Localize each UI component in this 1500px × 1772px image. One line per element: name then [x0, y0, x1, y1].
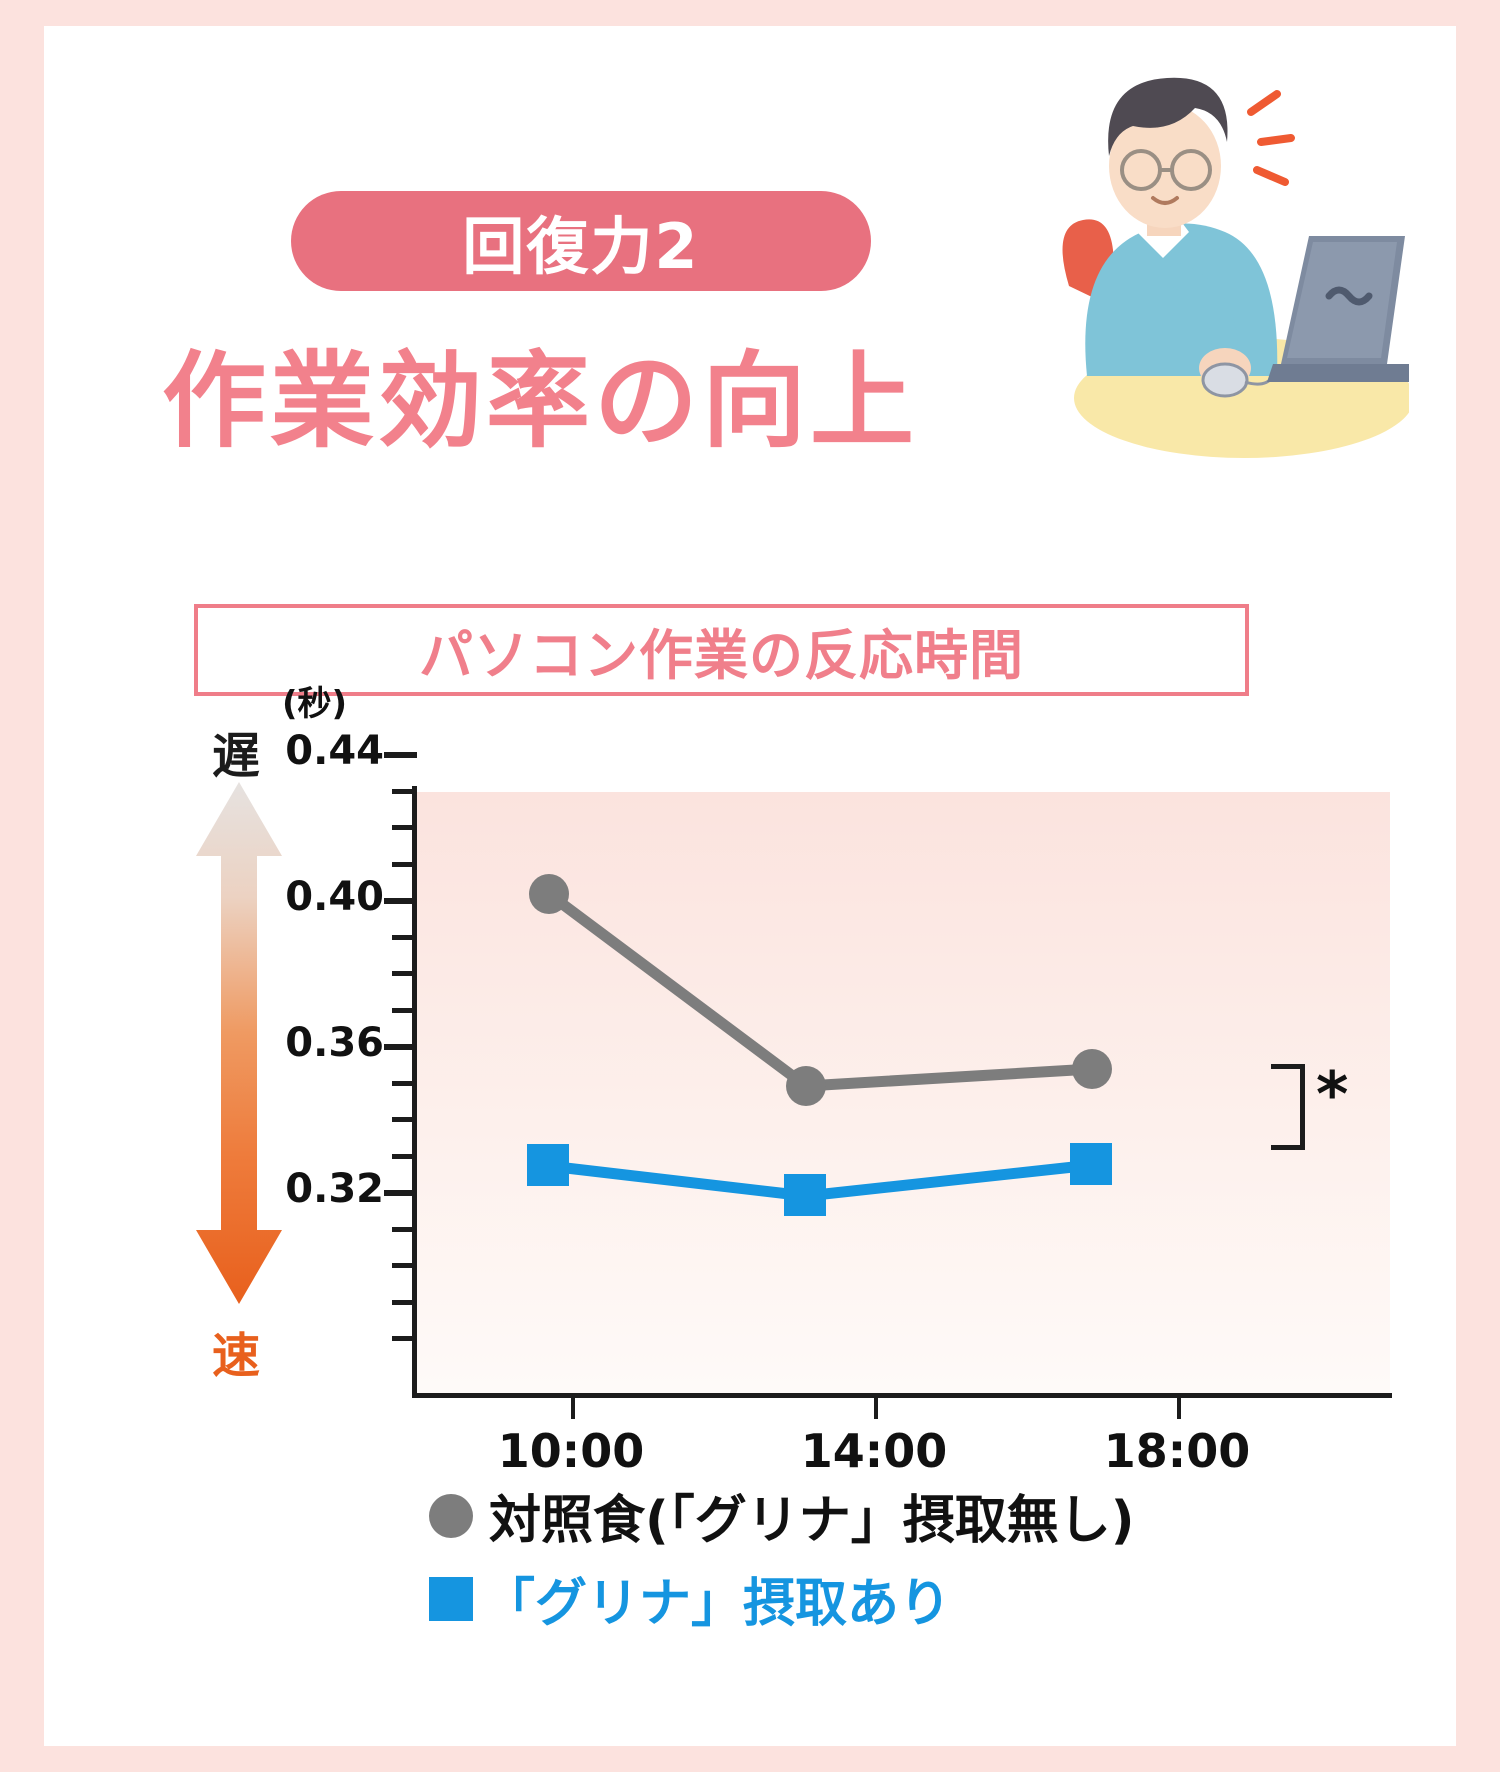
slow-fast-gradient-arrow [184, 778, 294, 1313]
axis-indicator-slow-label: 遅 [181, 716, 291, 786]
card-frame: 回復力2 作業効率の向上 [44, 26, 1456, 1746]
x-label-14-00: 14:00 [759, 1424, 989, 1478]
x-label-18-00: 18:00 [1062, 1424, 1292, 1478]
y-tick-minor [392, 935, 417, 940]
x-label-10-00: 10:00 [456, 1424, 686, 1478]
legend-square-icon [429, 1577, 473, 1621]
x-tick-10-00 [571, 1393, 575, 1419]
plot-background [416, 792, 1390, 1394]
y-tick-minor [392, 1336, 417, 1341]
legend-circle-icon [429, 1494, 473, 1538]
y-tick-minor [392, 1300, 417, 1305]
y-tick-0.32 [384, 1190, 417, 1196]
legend-label-control: 対照食(「グリナ」摂取無し) [489, 1478, 1135, 1553]
x-axis-line [412, 1393, 1392, 1398]
significance-bracket [1271, 1064, 1305, 1150]
reaction-time-chart: (秒) 0.44 0.40 0.36 0.32 10:00 14:00 18:0… [44, 26, 1456, 1746]
legend-label-treatment: 「グリナ」摂取あり [483, 1561, 951, 1636]
y-axis-unit-label: (秒) [282, 676, 347, 725]
y-tick-minor [392, 1263, 417, 1268]
y-tick-minor [392, 1081, 417, 1086]
y-tick-minor [392, 1008, 417, 1013]
legend-item-treatment: 「グリナ」摂取あり [429, 1561, 1135, 1636]
x-tick-14-00 [874, 1393, 878, 1419]
y-tick-0.36 [384, 1044, 417, 1050]
y-tick-minor [392, 789, 417, 794]
chart-legend: 対照食(「グリナ」摂取無し) 「グリナ」摂取あり [429, 1478, 1135, 1644]
significance-asterisk: * [1316, 1064, 1348, 1126]
y-tick-minor [392, 1154, 417, 1159]
y-tick-minor [392, 971, 417, 976]
axis-indicator-fast-label: 速 [181, 1316, 291, 1386]
y-tick-minor [392, 862, 417, 867]
y-tick-minor [392, 1117, 417, 1122]
y-tick-minor [392, 1227, 417, 1232]
legend-item-control: 対照食(「グリナ」摂取無し) [429, 1478, 1135, 1553]
y-axis-line [412, 786, 417, 1398]
y-tick-0.40 [384, 898, 417, 904]
x-tick-18-00 [1177, 1393, 1181, 1419]
y-tick-minor [392, 825, 417, 830]
y-tick-0.44 [384, 752, 417, 758]
